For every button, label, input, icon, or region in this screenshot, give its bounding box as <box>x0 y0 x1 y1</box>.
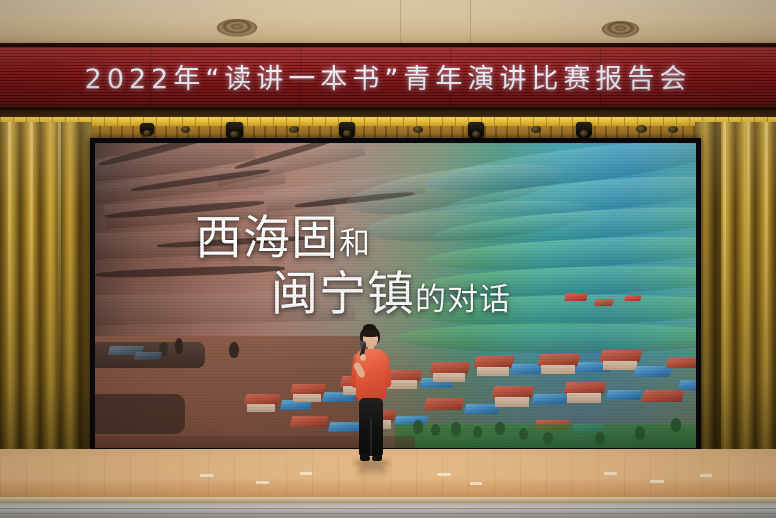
auditorium-stage-photo: 2022年“读讲一本书”青年演讲比赛报告会 <box>0 0 776 518</box>
stage-spotlight-icon <box>226 122 243 139</box>
presenter-shoe-left <box>360 454 370 461</box>
led-wall: 西海固和 闽宁镇的对话 <box>90 138 701 453</box>
stage-spotlight-icon <box>289 126 299 133</box>
stage-spotlight-icon <box>140 123 154 136</box>
stage-apron <box>0 503 776 518</box>
stage-spotlight-icon <box>668 126 678 133</box>
stage-curtain-left <box>0 122 92 452</box>
stage-spotlight-icon <box>576 122 592 138</box>
ceiling-speaker-left-icon <box>217 19 257 36</box>
village-imagery <box>95 336 696 448</box>
stage-curtain-right <box>695 122 776 452</box>
stage-spotlight-icon <box>339 122 355 138</box>
led-wall-content: 西海固和 闽宁镇的对话 <box>95 143 696 448</box>
valance-gold-pelmet <box>0 117 776 126</box>
banner-title-text: 2022年“读讲一本书”青年演讲比赛报告会 <box>0 47 776 106</box>
presenter-shoe-right <box>372 454 382 461</box>
stage-spotlight-icon <box>181 126 190 133</box>
presenter <box>349 326 393 478</box>
stage-spotlight-icon <box>636 125 647 133</box>
led-banner: 2022年“读讲一本书”青年演讲比赛报告会 <box>0 47 776 106</box>
stage-spotlight-icon <box>413 126 423 133</box>
stage-spotlight-icon <box>468 122 484 139</box>
ceiling-speaker-right-icon <box>602 21 639 37</box>
ceiling <box>0 0 776 47</box>
stage-spotlight-icon <box>531 126 541 133</box>
